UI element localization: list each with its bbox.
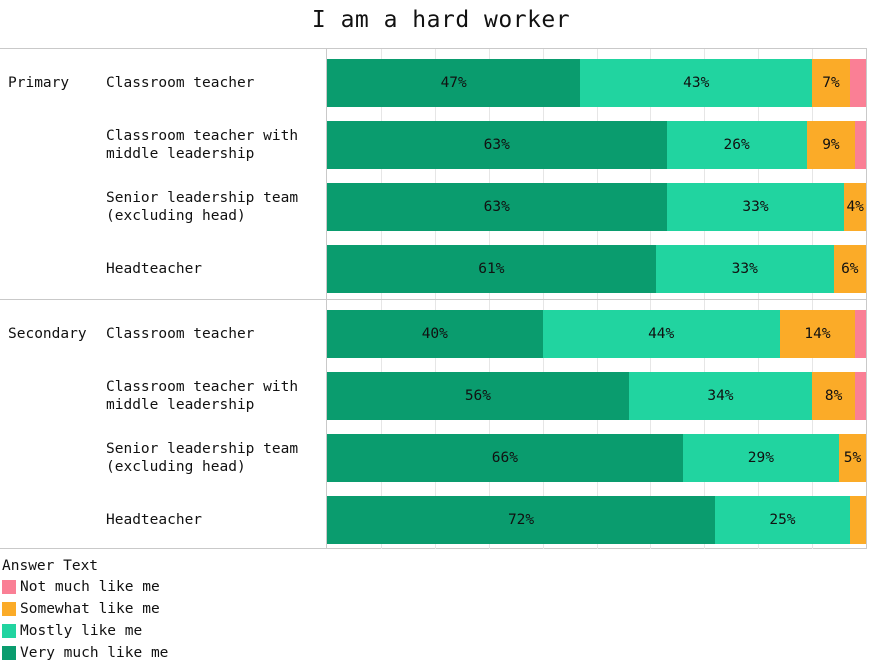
- chart-row: Senior leadership team(excluding head)63…: [0, 176, 866, 238]
- facet-secondary: SecondaryClassroom teacher40%44%14%Class…: [0, 299, 866, 549]
- stacked-bar[interactable]: 72%25%: [327, 496, 866, 544]
- row-category-line: Classroom teacher with: [106, 378, 322, 396]
- bar-segment[interactable]: 8%: [812, 372, 855, 420]
- bar-segment[interactable]: [855, 121, 866, 169]
- bar-segment[interactable]: 63%: [327, 121, 667, 169]
- bar-segment[interactable]: 25%: [715, 496, 850, 544]
- stacked-bar[interactable]: 63%26%9%: [327, 121, 866, 169]
- stacked-bar[interactable]: 63%33%4%: [327, 183, 866, 231]
- legend-item-label: Very much like me: [20, 645, 168, 661]
- bar-segment[interactable]: 56%: [327, 372, 629, 420]
- row-category-line: Headteacher: [106, 511, 322, 529]
- bar-segment[interactable]: [850, 59, 866, 107]
- legend-item[interactable]: Somewhat like me: [2, 598, 342, 620]
- chart-title: I am a hard worker: [0, 7, 882, 33]
- chart-row: SecondaryClassroom teacher40%44%14%: [0, 303, 866, 365]
- row-category-label: Headteacher: [106, 260, 322, 278]
- chart-row: Headteacher72%25%: [0, 489, 866, 551]
- row-category-line: Classroom teacher with: [106, 127, 322, 145]
- legend-swatch-icon: [2, 624, 16, 638]
- legend-item[interactable]: Very much like me: [2, 642, 342, 664]
- bar-segment[interactable]: 26%: [667, 121, 807, 169]
- legend-item[interactable]: Not much like me: [2, 576, 342, 598]
- bar-segment[interactable]: 4%: [844, 183, 866, 231]
- stacked-bar[interactable]: 61%33%6%: [327, 245, 866, 293]
- axis-separator: [326, 300, 327, 549]
- chart-row: Classroom teacher withmiddle leadership5…: [0, 365, 866, 427]
- chart-row: Headteacher61%33%6%: [0, 238, 866, 300]
- bar-segment[interactable]: 44%: [543, 310, 780, 358]
- bar-segment[interactable]: 33%: [656, 245, 834, 293]
- legend-item-label: Mostly like me: [20, 623, 142, 639]
- bar-segment[interactable]: 47%: [327, 59, 580, 107]
- bar-segment[interactable]: 5%: [839, 434, 866, 482]
- row-category-line: Senior leadership team: [106, 189, 322, 207]
- stacked-bar[interactable]: 56%34%8%: [327, 372, 866, 420]
- row-category-line: Headteacher: [106, 260, 322, 278]
- bar-segment[interactable]: 43%: [580, 59, 812, 107]
- bar-segment[interactable]: 14%: [780, 310, 855, 358]
- bar-segment[interactable]: [855, 310, 866, 358]
- bar-segment[interactable]: 61%: [327, 245, 656, 293]
- row-category-label: Headteacher: [106, 511, 322, 529]
- chart-row: PrimaryClassroom teacher47%43%7%: [0, 52, 866, 114]
- row-category-line: (excluding head): [106, 207, 322, 225]
- chart-row: Senior leadership team(excluding head)66…: [0, 427, 866, 489]
- row-category-line: middle leadership: [106, 396, 322, 414]
- legend-swatch-icon: [2, 646, 16, 660]
- legend-swatch-icon: [2, 602, 16, 616]
- row-category-label: Classroom teacher: [106, 325, 322, 343]
- bar-segment[interactable]: 40%: [327, 310, 543, 358]
- row-category-line: Senior leadership team: [106, 440, 322, 458]
- stacked-bar[interactable]: 47%43%7%: [327, 59, 866, 107]
- chart-root: I am a hard worker PrimaryClassroom teac…: [0, 0, 882, 669]
- stacked-bar[interactable]: 40%44%14%: [327, 310, 866, 358]
- facet-label: Secondary: [8, 326, 87, 342]
- row-category-line: Classroom teacher: [106, 74, 322, 92]
- row-category-line: (excluding head): [106, 458, 322, 476]
- chart-row: Classroom teacher withmiddle leadership6…: [0, 114, 866, 176]
- stacked-bar[interactable]: 66%29%5%: [327, 434, 866, 482]
- row-category-label: Classroom teacher withmiddle leadership: [106, 378, 322, 414]
- chart-legend: Answer Text Not much like meSomewhat lik…: [2, 558, 342, 664]
- legend-title: Answer Text: [2, 558, 342, 574]
- facet-primary: PrimaryClassroom teacher47%43%7%Classroo…: [0, 49, 866, 299]
- bar-segment[interactable]: 63%: [327, 183, 667, 231]
- legend-item-list: Not much like meSomewhat like meMostly l…: [2, 576, 342, 664]
- row-category-label: Classroom teacher withmiddle leadership: [106, 127, 322, 163]
- bar-segment[interactable]: 9%: [807, 121, 856, 169]
- chart-plot-frame: PrimaryClassroom teacher47%43%7%Classroo…: [0, 48, 867, 549]
- bar-segment[interactable]: 6%: [834, 245, 866, 293]
- bar-segment[interactable]: 72%: [327, 496, 715, 544]
- legend-item[interactable]: Mostly like me: [2, 620, 342, 642]
- bar-segment[interactable]: 29%: [683, 434, 839, 482]
- row-category-line: Classroom teacher: [106, 325, 322, 343]
- bar-segment[interactable]: [850, 496, 866, 544]
- legend-swatch-icon: [2, 580, 16, 594]
- bar-segment[interactable]: 7%: [812, 59, 850, 107]
- legend-item-label: Somewhat like me: [20, 601, 160, 617]
- axis-separator: [326, 49, 327, 299]
- bar-segment[interactable]: 66%: [327, 434, 683, 482]
- facet-label: Primary: [8, 75, 69, 91]
- row-category-line: middle leadership: [106, 145, 322, 163]
- legend-item-label: Not much like me: [20, 579, 160, 595]
- bar-segment[interactable]: 33%: [667, 183, 845, 231]
- row-category-label: Classroom teacher: [106, 74, 322, 92]
- row-category-label: Senior leadership team(excluding head): [106, 189, 322, 225]
- bar-segment[interactable]: 34%: [629, 372, 812, 420]
- bar-segment[interactable]: [855, 372, 866, 420]
- row-category-label: Senior leadership team(excluding head): [106, 440, 322, 476]
